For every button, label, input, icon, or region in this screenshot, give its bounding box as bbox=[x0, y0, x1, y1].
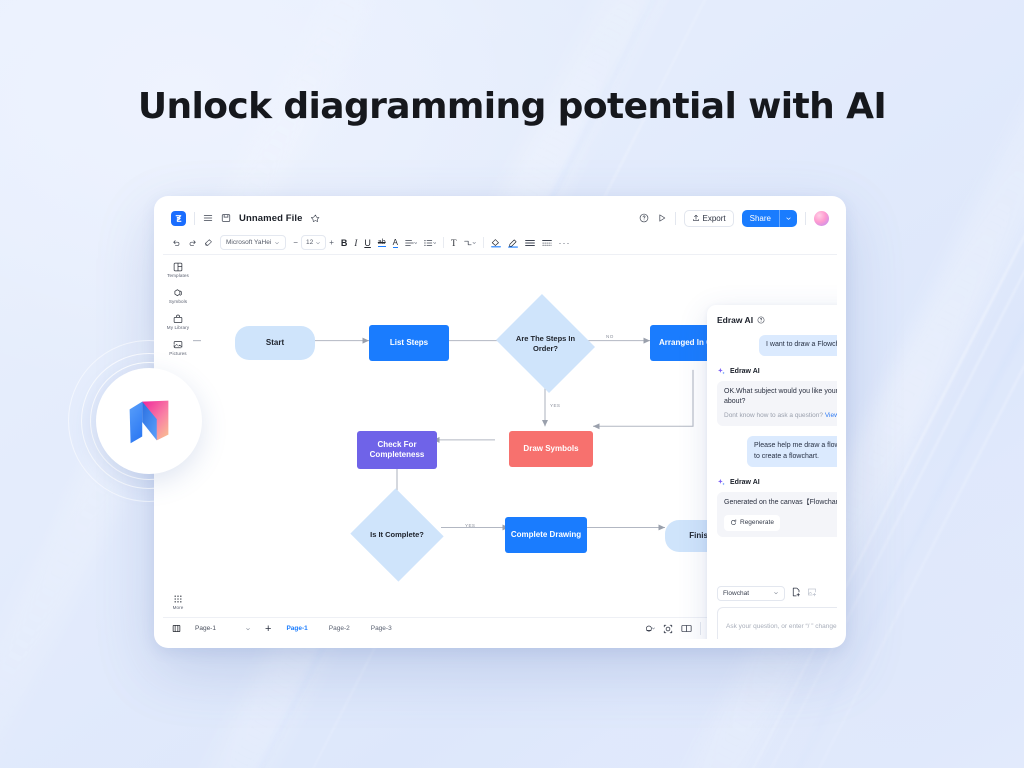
divider bbox=[483, 237, 484, 248]
ai-sender-name: Edraw AI bbox=[717, 367, 837, 376]
play-icon[interactable] bbox=[657, 213, 667, 223]
page-tab-2[interactable]: Page-2 bbox=[323, 625, 356, 632]
node-label: Start bbox=[266, 338, 284, 348]
flow-node-are-steps-in-order[interactable]: Are The Steps In Order? bbox=[508, 311, 583, 376]
divider bbox=[700, 622, 701, 635]
font-size-value: 12 bbox=[306, 239, 313, 246]
ai-actions-row: Regenerate bbox=[724, 515, 837, 531]
layout-icon[interactable] bbox=[525, 239, 535, 247]
hint-text: Dont know how to ask a question? bbox=[724, 412, 825, 419]
font-size-select[interactable]: 12 bbox=[301, 235, 326, 250]
ai-message-assistant: Generated on the canvas【Flowchart】 Regen… bbox=[717, 492, 837, 536]
book-icon[interactable] bbox=[681, 624, 692, 633]
export-label: Export bbox=[703, 214, 726, 223]
node-label: Is It Complete? bbox=[363, 503, 431, 567]
ai-tools-row: Flowchat bbox=[707, 577, 837, 607]
text-align-icon[interactable] bbox=[405, 239, 417, 247]
edraw-brand-logo bbox=[96, 368, 202, 474]
titlebar: Unnamed File Export Share bbox=[163, 205, 837, 231]
bullet-list-icon[interactable] bbox=[424, 239, 436, 247]
sidebar-label: More bbox=[173, 605, 184, 610]
sidebar-label: Symbols bbox=[169, 299, 187, 304]
undo-icon[interactable] bbox=[172, 238, 181, 247]
node-label: Check For Completeness bbox=[361, 440, 433, 460]
page-select[interactable]: Page-1 bbox=[190, 622, 256, 636]
sparkle-icon bbox=[717, 478, 726, 487]
flow-node-is-it-complete[interactable]: Is It Complete? bbox=[363, 503, 431, 567]
sidebar-label: Templates bbox=[167, 273, 189, 278]
redo-icon[interactable] bbox=[188, 238, 197, 247]
file-name[interactable]: Unnamed File bbox=[239, 213, 303, 224]
page-select-value: Page-1 bbox=[195, 625, 216, 632]
divider bbox=[194, 212, 195, 225]
sparkle-icon bbox=[717, 367, 726, 376]
ai-message-user: Please help me draw a flowchart showing … bbox=[747, 436, 837, 467]
sidebar-item-more[interactable]: More bbox=[163, 593, 193, 610]
app-logo-icon[interactable] bbox=[171, 211, 186, 226]
divider bbox=[675, 212, 676, 225]
decrease-font-button[interactable]: − bbox=[293, 238, 298, 247]
increase-font-button[interactable]: + bbox=[329, 238, 334, 247]
ai-message-list: I want to draw a Flowchart Edraw AI OK.W… bbox=[707, 331, 837, 577]
brand-mark-icon bbox=[118, 390, 180, 452]
sidebar-label: My Library bbox=[167, 325, 189, 330]
node-label: List Steps bbox=[390, 338, 428, 348]
underline-button[interactable]: U bbox=[364, 238, 371, 248]
sender-label: Edraw AI bbox=[730, 479, 760, 486]
format-painter-icon[interactable] bbox=[204, 238, 213, 247]
layers-icon[interactable] bbox=[172, 624, 181, 633]
edge-label-yes-order: YES bbox=[550, 403, 560, 408]
focus-icon[interactable] bbox=[663, 624, 673, 634]
connector-icon[interactable] bbox=[464, 239, 476, 247]
bot-select[interactable]: Flowchat bbox=[717, 586, 785, 601]
hamburger-menu-icon[interactable] bbox=[203, 213, 213, 223]
chevron-down-icon bbox=[773, 590, 779, 596]
fill-color-icon[interactable] bbox=[491, 238, 501, 248]
help-circle-icon[interactable] bbox=[639, 213, 649, 223]
ai-message-assistant: OK.What subject would you like your flow… bbox=[717, 381, 837, 427]
line-color-icon[interactable] bbox=[508, 238, 518, 248]
table-icon[interactable] bbox=[542, 239, 552, 247]
bot-select-value: Flowchat bbox=[723, 590, 749, 597]
ai-message-text: OK.What subject would you like your flow… bbox=[724, 388, 837, 406]
save-icon[interactable] bbox=[221, 213, 231, 223]
symbols-icon bbox=[173, 287, 183, 298]
flow-node-list-steps[interactable]: List Steps bbox=[369, 325, 449, 361]
add-page-button[interactable]: + bbox=[265, 623, 271, 635]
chevron-down-icon[interactable] bbox=[779, 210, 797, 227]
sidebar-item-symbols[interactable]: Symbols bbox=[163, 287, 193, 304]
chevron-down-icon bbox=[315, 240, 321, 246]
export-button[interactable]: Export bbox=[684, 210, 734, 227]
chevron-down-icon bbox=[274, 240, 280, 246]
help-circle-icon[interactable] bbox=[757, 316, 765, 324]
font-family-select[interactable]: Microsoft YaHei bbox=[220, 235, 286, 250]
node-label: Complete Drawing bbox=[511, 530, 581, 540]
ai-sender-name: Edraw AI bbox=[717, 478, 837, 487]
page-tab-3[interactable]: Page-3 bbox=[365, 625, 398, 632]
node-label: Are The Steps In Order? bbox=[508, 311, 583, 376]
edge-label-yes-complete: YES bbox=[465, 523, 475, 528]
edge-label-no: NO bbox=[606, 334, 614, 339]
theme-icon[interactable] bbox=[645, 624, 655, 634]
ai-input-placeholder: Ask your question, or enter “/ ” change … bbox=[726, 623, 837, 630]
view-example-link[interactable]: View an example bbox=[825, 412, 837, 419]
add-image-icon[interactable] bbox=[807, 584, 817, 602]
sender-label: Edraw AI bbox=[730, 368, 760, 375]
share-button[interactable]: Share bbox=[742, 210, 797, 227]
ai-question-input[interactable]: Ask your question, or enter “/ ” change … bbox=[717, 607, 837, 639]
flow-node-complete-drawing[interactable]: Complete Drawing bbox=[505, 517, 587, 553]
page-tab-1[interactable]: Page-1 bbox=[280, 625, 313, 632]
strikethrough-button[interactable]: ab bbox=[378, 239, 386, 247]
sidebar-item-templates[interactable]: Templates bbox=[163, 261, 193, 278]
regenerate-label: Regenerate bbox=[740, 518, 774, 528]
grid-more-icon bbox=[173, 593, 183, 604]
ai-panel-header: Edraw AI 1000 bbox=[707, 305, 837, 331]
app-window: Unnamed File Export Share bbox=[154, 196, 846, 648]
edraw-ai-panel: Edraw AI 1000 bbox=[707, 305, 837, 639]
divider bbox=[443, 237, 444, 248]
page-title: Unlock diagramming potential with AI bbox=[0, 86, 1024, 127]
avatar[interactable] bbox=[814, 211, 829, 226]
my-library-icon bbox=[173, 313, 183, 324]
font-color-button[interactable]: A bbox=[393, 238, 398, 248]
share-label: Share bbox=[742, 214, 779, 223]
bold-button[interactable]: B bbox=[341, 238, 348, 248]
star-icon[interactable] bbox=[311, 214, 320, 223]
app-body: Templates Symbols My Library bbox=[163, 255, 837, 617]
ai-message-hint: Dont know how to ask a question? View an… bbox=[724, 411, 837, 421]
node-label: Draw Symbols bbox=[523, 444, 578, 454]
divider bbox=[805, 212, 806, 225]
more-options-button[interactable]: ··· bbox=[559, 238, 571, 248]
flow-node-draw-symbols[interactable]: Draw Symbols bbox=[509, 431, 593, 467]
logo-circle bbox=[96, 368, 202, 474]
flow-node-check-for-completeness[interactable]: Check For Completeness bbox=[357, 431, 437, 469]
ai-message-user: I want to draw a Flowchart bbox=[759, 335, 837, 356]
flow-node-start[interactable]: Start bbox=[235, 326, 315, 360]
ai-panel-title: Edraw AI bbox=[717, 315, 753, 325]
font-family-value: Microsoft YaHei bbox=[226, 239, 271, 246]
new-document-icon[interactable] bbox=[791, 584, 801, 602]
italic-button[interactable]: I bbox=[354, 238, 357, 248]
chevron-down-icon bbox=[245, 626, 251, 632]
regenerate-button[interactable]: Regenerate bbox=[724, 515, 780, 531]
ai-message-text: Generated on the canvas【Flowchart】 bbox=[724, 499, 837, 506]
text-box-button[interactable]: T bbox=[451, 238, 457, 248]
templates-icon bbox=[173, 261, 183, 272]
format-toolbar: Microsoft YaHei − 12 + B I U ab A bbox=[163, 231, 837, 255]
refresh-icon bbox=[730, 519, 737, 526]
sidebar-item-my-library[interactable]: My Library bbox=[163, 313, 193, 330]
